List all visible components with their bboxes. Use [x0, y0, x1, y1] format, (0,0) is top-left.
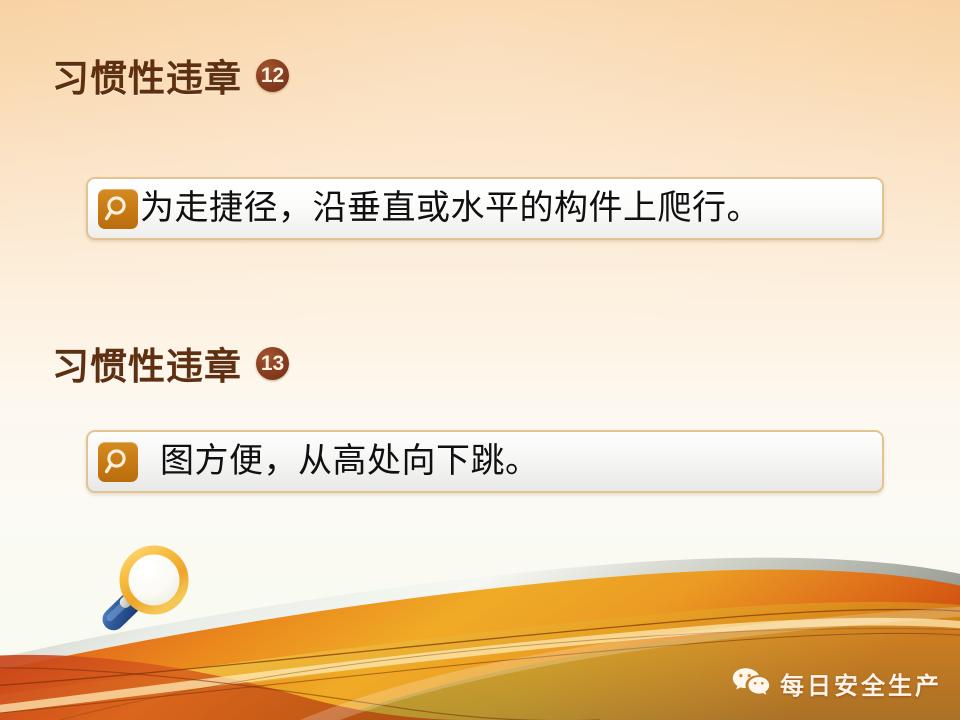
heading-label-1: 习惯性违章 [52, 48, 242, 102]
magnifier-icon [98, 189, 138, 229]
magnifier-icon [98, 442, 138, 482]
wechat-watermark: 每日安全生产 [730, 665, 942, 702]
wechat-label: 每日安全生产 [780, 666, 942, 701]
section-heading-1: 习惯性违章 12 [52, 48, 289, 102]
slide-canvas: 习惯性违章 12 为走捷径，沿垂直或水平的构件上爬行。 习惯性违章 13 图方便… [0, 0, 960, 720]
wechat-icon [730, 665, 770, 702]
statement-text-2: 图方便，从高处向下跳。 [160, 445, 540, 479]
statement-text-1: 为走捷径，沿垂直或水平的构件上爬行。 [140, 192, 761, 226]
section-heading-2: 习惯性违章 13 [52, 336, 289, 390]
section-badge-12: 12 [256, 59, 289, 92]
magnifier-decoration-icon [78, 536, 208, 646]
statement-box-2: 图方便，从高处向下跳。 [86, 430, 884, 493]
statement-box-1: 为走捷径，沿垂直或水平的构件上爬行。 [86, 177, 884, 240]
section-badge-13: 13 [256, 347, 289, 380]
heading-label-2: 习惯性违章 [52, 336, 242, 390]
